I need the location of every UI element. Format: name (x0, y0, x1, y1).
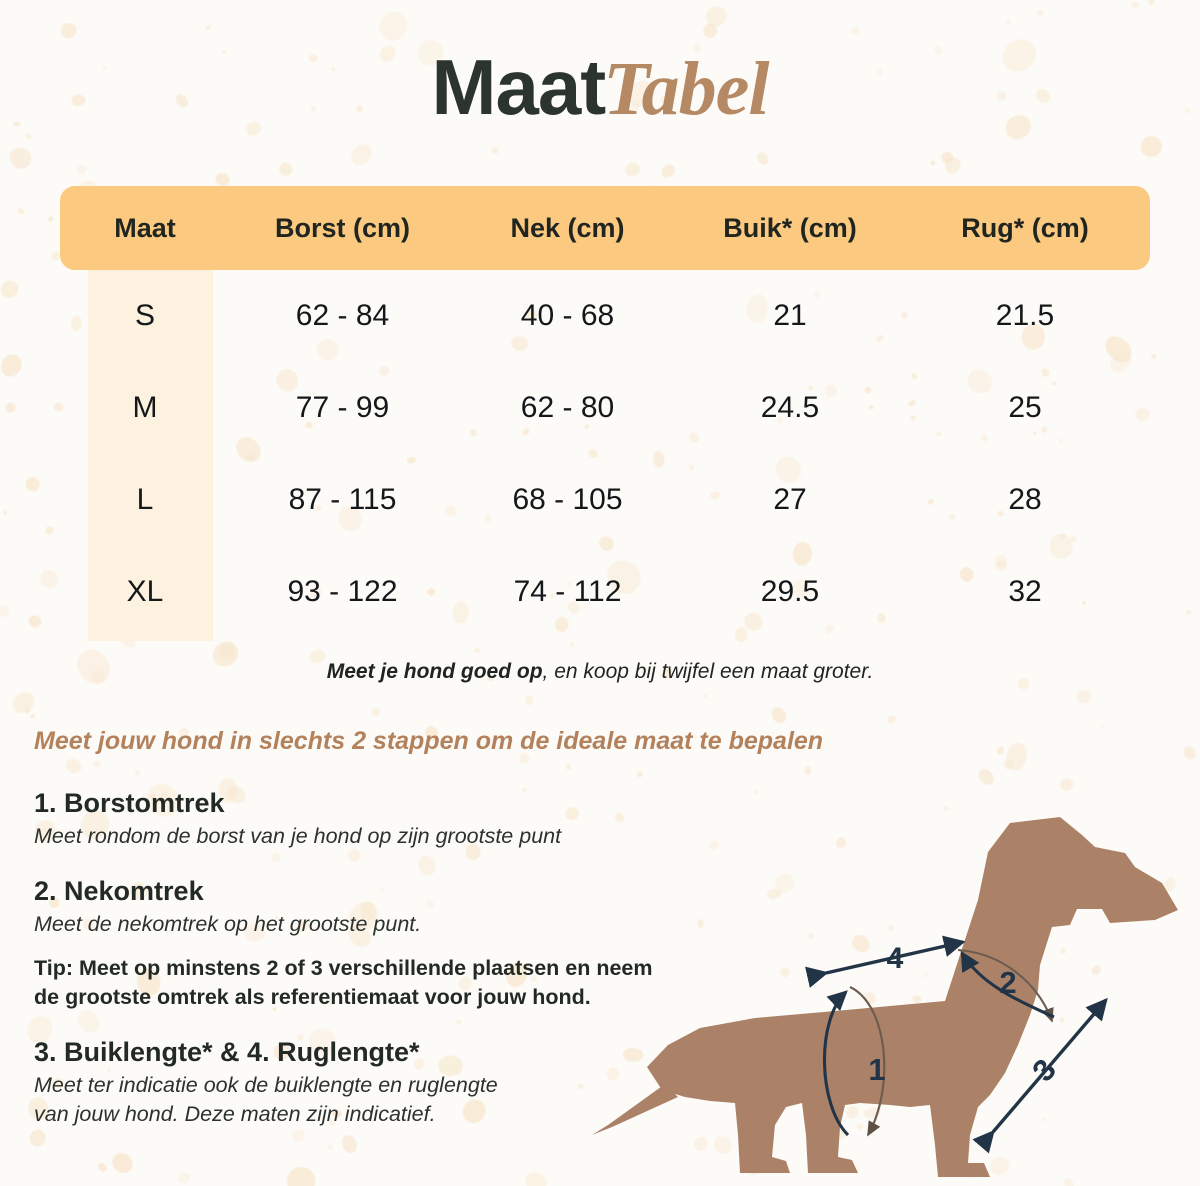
cell-borst: 93 - 122 (230, 575, 455, 609)
table-row: S 62 - 84 40 - 68 21 21.5 (60, 270, 1150, 362)
cell-buik: 29.5 (680, 575, 900, 609)
table-row: M 77 - 99 62 - 80 24.5 25 (60, 362, 1150, 454)
table-note-rest: , en koop bij twijfel een maat groter. (543, 660, 874, 683)
page-title: MaatTabel (0, 42, 1200, 133)
measurement-4-belly-length: 4 (826, 942, 963, 975)
cell-nek: 74 - 112 (455, 575, 680, 609)
cell-rug: 32 (900, 575, 1150, 609)
cell-borst: 62 - 84 (230, 299, 455, 333)
cell-maat: S (60, 299, 230, 333)
column-header-nek: Nek (cm) (455, 213, 680, 244)
title-main-word: Maat (431, 43, 605, 131)
measurement-2-label: 2 (999, 965, 1016, 1000)
cell-rug: 28 (900, 483, 1150, 517)
measurement-1-label: 1 (868, 1052, 885, 1087)
cell-maat: XL (60, 575, 230, 609)
column-header-borst: Borst (cm) (230, 213, 455, 244)
cell-nek: 68 - 105 (455, 483, 680, 517)
table-row: XL 93 - 122 74 - 112 29.5 32 (60, 546, 1150, 638)
cell-rug: 25 (900, 391, 1150, 425)
dog-silhouette-icon (592, 817, 1178, 1177)
size-chart-page: MaatTabel Maat Borst (cm) Nek (cm) Buik*… (0, 0, 1200, 1186)
cell-nek: 40 - 68 (455, 299, 680, 333)
title-script-word: Tabel (603, 47, 768, 131)
size-table: Maat Borst (cm) Nek (cm) Buik* (cm) Rug*… (60, 186, 1150, 656)
cell-maat: M (60, 391, 230, 425)
instructions-subtitle: Meet jouw hond in slechts 2 stappen om d… (34, 727, 823, 756)
table-header-row: Maat Borst (cm) Nek (cm) Buik* (cm) Rug*… (60, 186, 1150, 270)
column-header-buik: Buik* (cm) (680, 213, 900, 244)
cell-rug: 21.5 (900, 299, 1150, 333)
cell-buik: 24.5 (680, 391, 900, 425)
cell-maat: L (60, 483, 230, 517)
cell-borst: 77 - 99 (230, 391, 455, 425)
table-grid: Maat Borst (cm) Nek (cm) Buik* (cm) Rug*… (60, 186, 1150, 638)
dog-measurement-diagram: 1 2 3 4 (590, 805, 1200, 1186)
cell-buik: 21 (680, 299, 900, 333)
table-note: Meet je hond goed op, en koop bij twijfe… (0, 660, 1200, 684)
table-row: L 87 - 115 68 - 105 27 28 (60, 454, 1150, 546)
cell-borst: 87 - 115 (230, 483, 455, 517)
measurement-4-label: 4 (887, 942, 904, 975)
table-note-bold: Meet je hond goed op (327, 660, 543, 683)
column-header-rug: Rug* (cm) (900, 213, 1150, 244)
cell-buik: 27 (680, 483, 900, 517)
column-header-maat: Maat (60, 213, 230, 244)
cell-nek: 62 - 80 (455, 391, 680, 425)
